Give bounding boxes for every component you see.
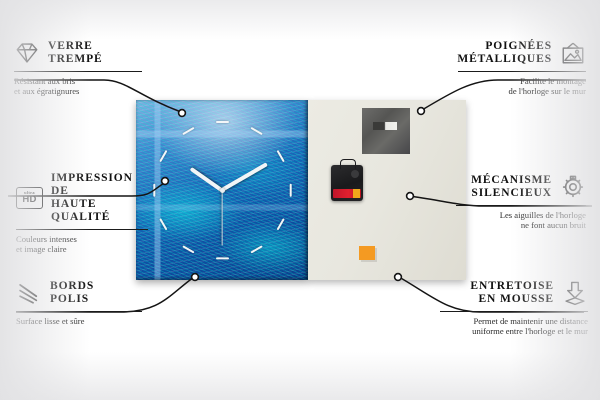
feature-title: IMPRESSION DE HAUTE QUALITÉ — [51, 172, 148, 224]
feature-poignees-metalliques: POIGNÉES MÉTALLIQUES Facilite le montage… — [458, 40, 586, 97]
feature-title: BORDS POLIS — [50, 280, 94, 306]
feature-desc: Permet de maintenir une distance uniform… — [440, 316, 588, 337]
clock-back-panel — [308, 100, 466, 280]
bracket-slot — [373, 122, 397, 130]
divider — [456, 205, 586, 206]
hd-label: HD — [22, 195, 36, 205]
second-hand — [221, 190, 222, 246]
foam-spacer — [359, 246, 375, 260]
foam-spacer-arrow-icon — [562, 280, 588, 306]
clock-tick — [216, 257, 229, 259]
diamond-icon — [14, 40, 40, 66]
feature-desc: Surface lisse et sûre — [16, 316, 142, 326]
feature-desc: Résistant aux bris et aux égratignures — [14, 76, 142, 97]
divider — [458, 71, 586, 72]
metal-bracket-icon — [362, 108, 410, 154]
setting-dial — [351, 170, 359, 178]
feature-desc: Les aiguilles de l'horloge ne font aucun… — [456, 210, 586, 231]
clock-tick — [153, 183, 155, 196]
feature-desc: Facilite le montage de l'horloge sur le … — [458, 76, 586, 97]
feature-mecanisme-silencieux: MÉCANISME SILENCIEUX Les aiguilles de l'… — [456, 174, 586, 231]
polished-edges-icon — [16, 280, 42, 306]
clock-tick — [289, 183, 291, 196]
battery — [333, 189, 361, 198]
infographic-canvas: VERRE TREMPÉ Résistant aux bris et aux é… — [0, 0, 600, 400]
divider — [16, 311, 142, 312]
feature-desc: Couleurs intenses et image claire — [16, 234, 148, 255]
battery-plus-terminal — [353, 189, 360, 198]
wall-hanger-frame-icon — [560, 40, 586, 66]
gear-icon — [560, 174, 586, 200]
divider — [14, 71, 142, 72]
feature-title: POIGNÉES MÉTALLIQUES — [457, 40, 552, 66]
feature-impression-hd: ultra HD IMPRESSION DE HAUTE QUALITÉ Cou… — [16, 172, 148, 255]
feature-entretoise-mousse: ENTRETOISE EN MOUSSE Permet de maintenir… — [440, 280, 588, 337]
feature-title: ENTRETOISE EN MOUSSE — [470, 280, 554, 306]
divider — [16, 229, 148, 230]
ultra-hd-badge-icon: ultra HD — [16, 187, 43, 209]
feature-verre-trempe: VERRE TREMPÉ Résistant aux bris et aux é… — [14, 40, 142, 97]
feature-bords-polis: BORDS POLIS Surface lisse et sûre — [16, 280, 142, 326]
product-image — [136, 100, 466, 280]
feature-title: VERRE TREMPÉ — [48, 40, 103, 66]
clock-center-cap — [220, 188, 225, 193]
feature-title: MÉCANISME SILENCIEUX — [471, 174, 552, 200]
divider — [440, 311, 588, 312]
clock-mechanism — [331, 165, 363, 201]
hanger-loop — [340, 159, 356, 169]
clock-front-glass — [136, 100, 308, 280]
